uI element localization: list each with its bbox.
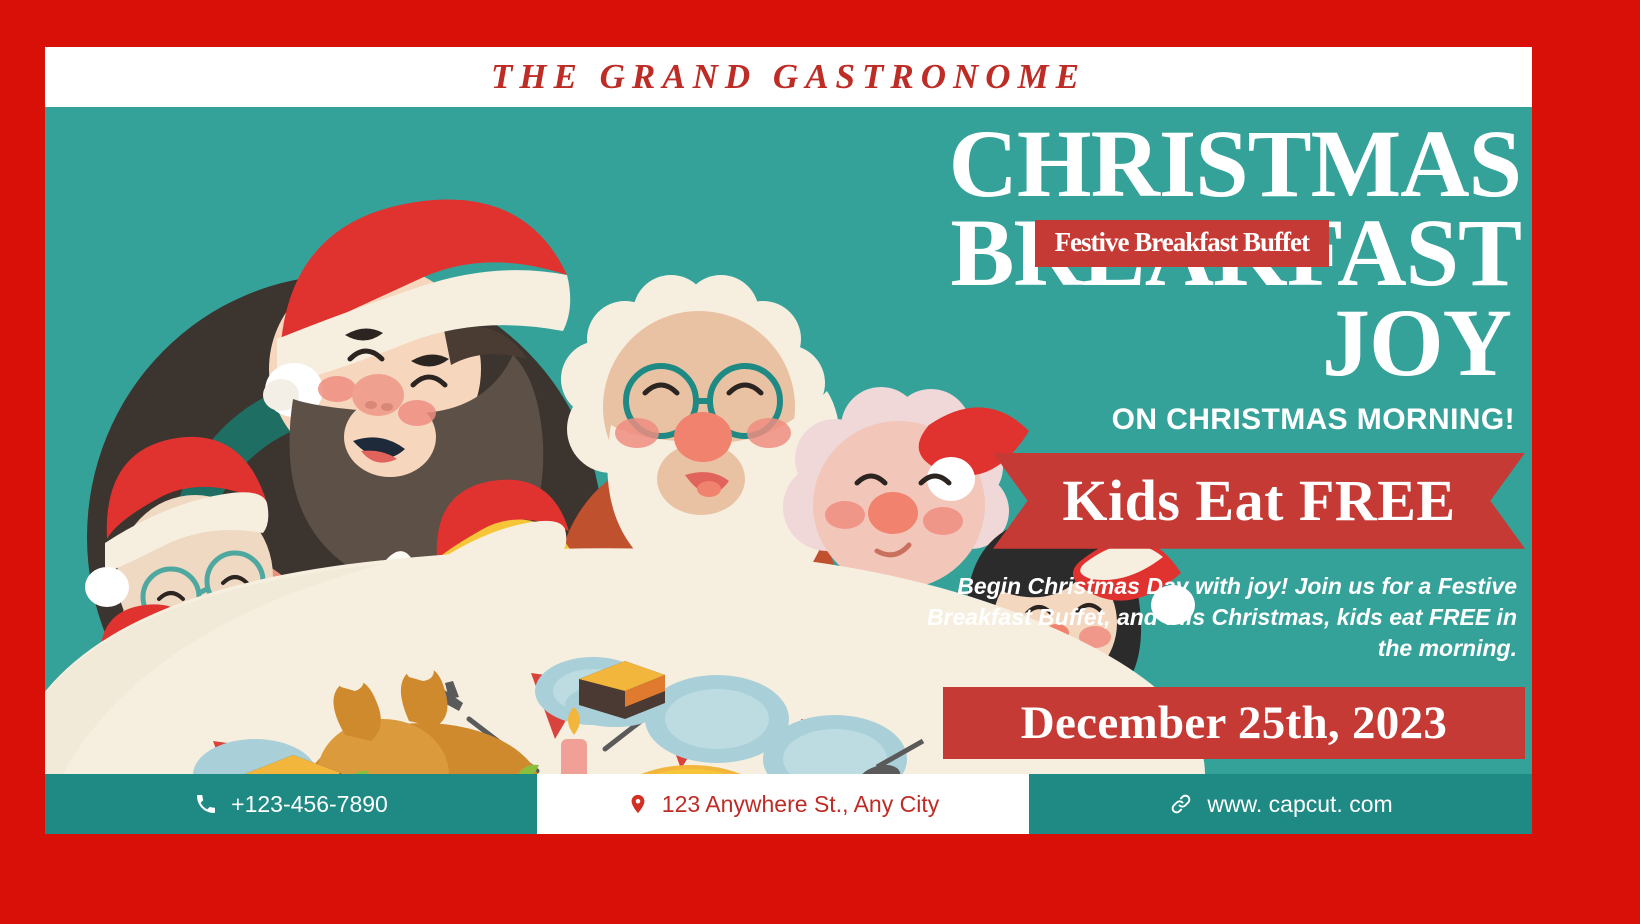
headline-line-1: CHRISTMAS: [925, 119, 1521, 208]
ribbon-label: Kids Eat FREE: [1062, 467, 1455, 534]
headline-line-3: JOY: [925, 298, 1511, 387]
festive-buffet-badge: Festive Breakfast Buffet: [1035, 220, 1329, 267]
kids-eat-free-ribbon: Kids Eat FREE: [993, 453, 1525, 549]
brand-name: THE GRAND GASTRONOME: [491, 57, 1086, 97]
contact-footer: +123-456-7890 123 Anywhere St., Any City: [45, 774, 1532, 834]
footer-website[interactable]: www. capcut. com: [1029, 774, 1532, 834]
footer-address[interactable]: 123 Anywhere St., Any City: [537, 774, 1029, 834]
map-pin-icon: [627, 792, 649, 816]
website-url: www. capcut. com: [1207, 791, 1392, 818]
event-date-banner: December 25th, 2023: [943, 687, 1525, 759]
brand-header: THE GRAND GASTRONOME: [45, 47, 1532, 107]
address-text: 123 Anywhere St., Any City: [662, 791, 939, 818]
footer-phone[interactable]: +123-456-7890: [45, 774, 537, 834]
headline-block: CHRISTMAS BREAKFAST Festive Breakfast Bu…: [925, 119, 1525, 387]
subheadline: ON CHRISTMAS MORNING!: [925, 403, 1515, 437]
event-date: December 25th, 2023: [1021, 696, 1447, 750]
poster-canvas: THE GRAND GASTRONOME: [0, 0, 1640, 924]
phone-icon: [194, 792, 218, 816]
promo-description: Begin Christmas Day with joy! Join us fo…: [925, 571, 1517, 665]
link-icon: [1168, 792, 1194, 816]
phone-number: +123-456-7890: [231, 791, 388, 818]
poster-card: THE GRAND GASTRONOME: [45, 47, 1532, 834]
promo-copy: CHRISTMAS BREAKFAST Festive Breakfast Bu…: [925, 119, 1525, 779]
